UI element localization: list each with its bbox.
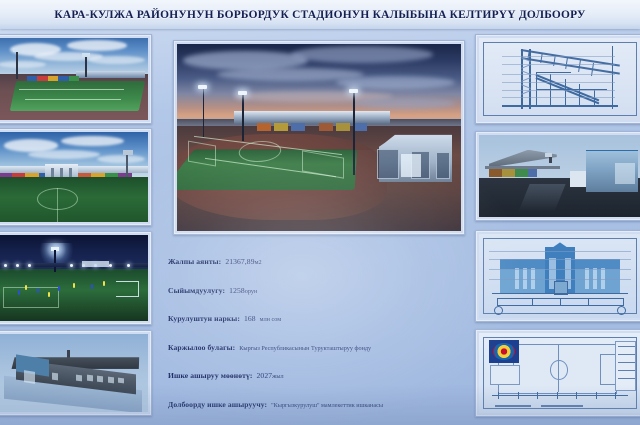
spec-label: Каржылоо булагы: [168, 343, 235, 352]
goal [116, 281, 140, 297]
title-block-line [541, 405, 583, 407]
dim-tick [557, 392, 558, 398]
plan-wall [618, 346, 634, 347]
seat-block [336, 123, 350, 130]
dim-tick [537, 392, 538, 398]
seat-block [291, 123, 305, 130]
presentation-board: КАРА-КУЛЖА РАЙОНУНУН БОРБОРДУК СТАДИОНУН… [0, 0, 640, 425]
level-line [489, 259, 632, 260]
spec-label: Долбоорду ишке ашыруучу: [168, 400, 267, 409]
spec-label: Жалпы аянты: [168, 257, 221, 266]
floodlight-head [238, 91, 247, 95]
cloud [291, 46, 433, 63]
cloud [336, 76, 455, 89]
halfway-line [57, 188, 58, 222]
spec-label: Курулуштун наркы: [168, 314, 240, 323]
window [118, 377, 124, 383]
dim-tick [576, 392, 577, 398]
spec-label: Ишке ашыруу мөөнөтү: [168, 371, 253, 380]
seat-block [515, 169, 528, 176]
window [97, 376, 103, 383]
level-line [502, 74, 615, 75]
window [108, 377, 114, 384]
penalty-box [3, 287, 59, 308]
spec-unit: м2 [255, 259, 262, 266]
cloud [28, 150, 100, 159]
entrance-door [401, 154, 421, 176]
spec-row: Жалпы аянты: 21367,89м2 [168, 252, 468, 268]
floodlight-mast [353, 93, 355, 175]
spec-value: 168 [244, 314, 256, 323]
drawing-panel-site-master-plan [475, 329, 640, 417]
ground-line [492, 293, 628, 295]
seat-block [274, 123, 288, 130]
photo-panel-stadium-tribune-day [0, 128, 152, 226]
floodlight-mast [85, 54, 87, 77]
title-block-line [495, 405, 531, 407]
center-circle [37, 188, 78, 210]
ground-line [502, 105, 619, 107]
right-wing-parapet [575, 259, 620, 269]
entrance-glazing [24, 371, 35, 385]
window [87, 375, 93, 382]
column [579, 84, 580, 105]
player [18, 290, 20, 295]
photo-panel-clubhouse-exterior [0, 330, 152, 416]
spec-row: Курулуштун наркы: 168 млн сом [168, 309, 468, 325]
spec-unit: орун [245, 288, 258, 295]
drawing-panel-pavilion-elevation [475, 230, 640, 322]
grandstand [234, 111, 390, 124]
window [377, 149, 399, 179]
photo-panel-stadium-aerial-day [0, 34, 152, 124]
plan-wall [618, 370, 634, 371]
window [52, 373, 58, 381]
target-icon [493, 343, 516, 360]
penalty-box [600, 354, 616, 385]
spec-unit: Кыргыз Республикасынын Турукташтыруу фон… [239, 345, 371, 352]
stand-silhouette [0, 263, 148, 266]
seat-block [257, 123, 271, 130]
column [565, 79, 566, 105]
spec-unit: "Кыргызкурулуш" мамлекеттик ишканасы [271, 402, 383, 409]
seat-block [353, 123, 367, 130]
window [615, 163, 634, 184]
photo-panel-stadium-night-match [0, 231, 152, 325]
spec-row: Долбоорду ишке ашыруучу: "Кыргызкурулуш"… [168, 395, 468, 411]
plan-wall [618, 354, 634, 355]
floodlight-head [123, 150, 133, 155]
halfway-line [558, 344, 559, 392]
dim-tick [615, 392, 616, 398]
player [48, 292, 50, 297]
ancillary-block [570, 171, 586, 187]
level-line [502, 90, 615, 91]
spec-label: Сыйымдуулугу: [168, 286, 225, 295]
drawing-panel-tribune-section [475, 34, 640, 124]
clubhouse [82, 261, 109, 267]
grid-bubble [494, 306, 503, 315]
football-pitch [10, 81, 145, 111]
dim-tick [588, 298, 589, 306]
spec-value: 1258 [229, 286, 245, 295]
floodlight-head [545, 153, 552, 157]
dim-tick [497, 298, 498, 306]
player [91, 284, 93, 289]
drawing-panel-canopy-entrance-render [475, 131, 640, 221]
spec-row: Сыйымдуулугу: 1258орун [168, 281, 468, 297]
floodlight-head [198, 85, 207, 89]
spec-value: 2027 [257, 371, 273, 380]
window [436, 152, 449, 178]
dim-tick [498, 392, 499, 398]
dim-tick [596, 392, 597, 398]
spec-row: Каржылоо булагы: Кыргыз Республикасынын … [168, 338, 468, 354]
floodlight-mast [242, 94, 244, 141]
spec-unit: жыл [272, 373, 284, 380]
dim-tick [518, 392, 519, 398]
project-specifications: Жалпы аянты: 21367,89м2 Сыйымдуулугу: 12… [168, 252, 468, 423]
level-line [502, 64, 615, 65]
seat-block [528, 169, 538, 176]
dim-tick [560, 298, 561, 306]
level-line [489, 279, 632, 280]
pitch-line [25, 99, 121, 100]
legend-box [490, 365, 520, 385]
player [103, 281, 105, 286]
page-title: КАРА-КУЛЖА РАЙОНУНУН БОРБОРДУК СТАДИОНУН… [54, 9, 585, 21]
spec-value: 21367,89 [225, 257, 254, 266]
floodlight-head [13, 48, 21, 52]
player [25, 285, 27, 290]
dim-tick [623, 298, 624, 306]
dim-tick [532, 298, 533, 306]
mast-column [529, 49, 531, 108]
floodlight-mast [54, 250, 56, 272]
plan-wall [618, 378, 634, 379]
floodlight-head [82, 53, 90, 57]
floodlight-mast [16, 49, 18, 79]
level-line [489, 251, 632, 252]
floodlight-head [349, 89, 358, 93]
board-title-bar: КАРА-КУЛЖА РАЙОНУНУН БОРБОРДУК СТАДИОНУН… [0, 0, 640, 29]
pitch-line [19, 89, 124, 90]
player [73, 283, 75, 288]
building-plan [615, 341, 636, 391]
level-line [502, 82, 615, 83]
player [58, 286, 60, 291]
floodlight-mast [203, 89, 205, 138]
level-line [489, 269, 632, 270]
spec-unit: млн сом [260, 316, 282, 323]
level-line [502, 97, 615, 98]
seat-block [489, 169, 502, 176]
seat-block [502, 169, 515, 176]
dimension-line [492, 395, 628, 396]
plan-wall [618, 362, 634, 363]
level-line [502, 56, 615, 57]
seat-block [319, 123, 333, 130]
player [37, 288, 39, 293]
photo-panel-stadium-main-render [173, 40, 465, 235]
spec-row: Ишке ашыруу мөөнөтү: 2027жыл [168, 366, 468, 382]
window [76, 374, 82, 381]
emblem [489, 340, 520, 362]
